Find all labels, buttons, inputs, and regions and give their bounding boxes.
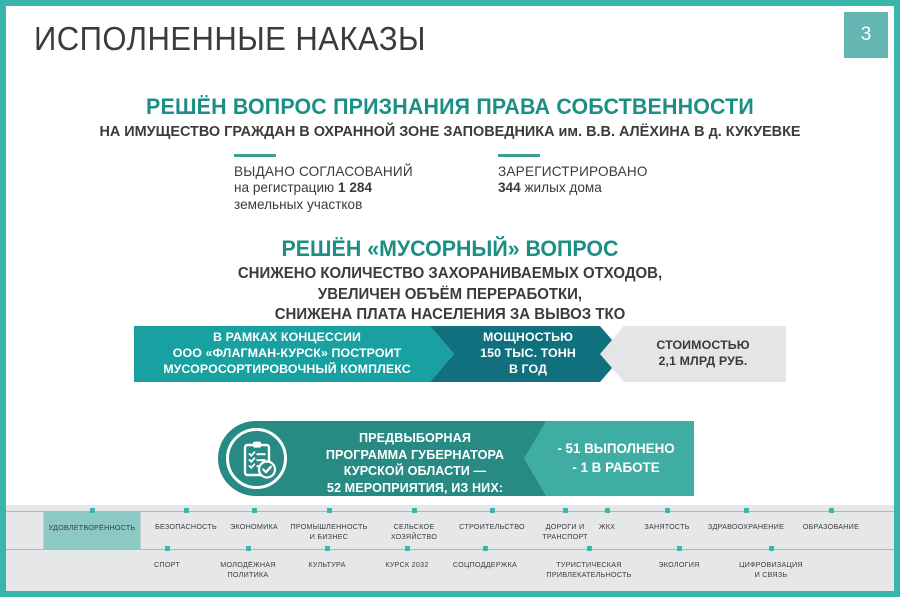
stat-registered: ЗАРЕГИСТРИРОВАНО 344 жилых дома — [498, 154, 648, 197]
governor-program-text: ПРЕДВЫБОРНАЯ ПРОГРАММА ГУБЕРНАТОРА КУРСК… — [292, 430, 538, 496]
banner-seg3-line: СТОИМОСТЬЮ — [656, 338, 749, 354]
footer-tick-marker — [677, 546, 682, 551]
footer-tick-marker — [769, 546, 774, 551]
property-section-heading: РЕШЁН ВОПРОС ПРИЗНАНИЯ ПРАВА СОБСТВЕННОС… — [28, 94, 872, 120]
footer-tick-marker — [184, 508, 189, 513]
banner-seg1-line: В РАМКАХ КОНЦЕССИИ — [163, 330, 411, 346]
banner-seg2-line: В ГОД — [480, 362, 576, 378]
waste-section-heading: РЕШЁН «МУСОРНЫЙ» ВОПРОС — [28, 236, 872, 262]
banner-seg1-line: МУСОРОСОРТИРОВОЧНЫЙ КОМПЛЕКС — [163, 362, 411, 378]
footer-bottom-label: СПОРТ — [154, 560, 180, 569]
page-number-badge: 3 — [844, 12, 888, 58]
footer-top-label: СЕЛЬСКОЕХОЗЯЙСТВО — [391, 522, 437, 541]
footer-tick-marker — [829, 508, 834, 513]
footer-tick-marker — [325, 546, 330, 551]
footer-top-item[interactable]: СЕЛЬСКОЕХОЗЯЙСТВО — [375, 511, 453, 542]
footer-tick-marker — [563, 508, 568, 513]
footer-tick-marker — [744, 508, 749, 513]
stat-approvals-line2: земельных участков — [234, 197, 413, 214]
footer-bottom-label: КУРСК 2032 — [385, 560, 428, 569]
footer-tick-marker — [605, 508, 610, 513]
footer-bottom-item[interactable]: КУРСК 2032 — [371, 549, 443, 570]
waste-sub-line: СНИЖЕНО КОЛИЧЕСТВО ЗАХОРАНИВАЕМЫХ ОТХОДО… — [24, 264, 876, 285]
footer-bottom-label: СОЦПОДДЕРЖКА — [453, 560, 517, 569]
governor-text-line: 52 МЕРОПРИЯТИЯ, ИЗ НИХ: — [292, 480, 538, 497]
governor-result-line: - 51 ВЫПОЛНЕНО — [557, 440, 674, 459]
property-section-subheading: НА ИМУЩЕСТВО ГРАЖДАН В ОХРАННОЙ ЗОНЕ ЗАП… — [28, 123, 872, 140]
footer-bottom-item[interactable]: ЦИФРОВИЗАЦИЯИ СВЯЗЬ — [727, 549, 814, 580]
footer-bottom-label: ЭКОЛОГИЯ — [658, 560, 699, 569]
footer-bottom-item[interactable]: МОЛОДЁЖНАЯПОЛИТИКА — [207, 549, 288, 580]
clipboard-check-icon — [226, 428, 287, 489]
footer-top-label: БЕЗОПАСНОСТЬ — [155, 522, 217, 531]
footer-bottom-item[interactable]: ЭКОЛОГИЯ — [647, 549, 711, 570]
page-title: ИСПОЛНЕННЫЕ НАКАЗЫ — [34, 20, 426, 58]
footer-top-label: ЗАНЯТОСТЬ — [644, 522, 689, 531]
banner-seg2-line: МОЩНОСТЬЮ — [480, 330, 576, 346]
footer-top-label: ЭКОНОМИКА — [230, 522, 278, 531]
footer-tick-marker — [587, 546, 592, 551]
footer-top-item[interactable]: БЕЗОПАСНОСТЬ — [147, 511, 225, 532]
footer-tick-marker — [405, 546, 410, 551]
banner-seg1-line: ООО «ФЛАГМАН-КУРСК» ПОСТРОИТ — [163, 346, 411, 362]
governor-text-line: ПРОГРАММА ГУБЕРНАТОРА — [292, 447, 538, 464]
footer-tick-marker — [90, 508, 95, 513]
stat-approvals: ВЫДАНО СОГЛАСОВАНИЙ на регистрацию 1 284… — [234, 154, 413, 213]
governor-program-results: - 51 ВЫПОЛНЕНО - 1 В РАБОТЕ — [524, 421, 694, 496]
banner-segment-concession: В РАМКАХ КОНЦЕССИИ ООО «ФЛАГМАН-КУРСК» П… — [134, 326, 454, 382]
footer-tick-marker — [252, 508, 257, 513]
footer-top-item[interactable]: УДОВЛЕТВОРЁННОСТЬ — [44, 511, 141, 549]
banner-segment-cost: СТОИМОСТЬЮ 2,1 МЛРД РУБ. — [600, 326, 786, 382]
footer-timeline: УДОВЛЕТВОРЁННОСТЬБЕЗОПАСНОСТЬЭКОНОМИКАПР… — [6, 505, 894, 591]
footer-top-label: СТРОИТЕЛЬСТВО — [459, 522, 525, 531]
stat-rule — [498, 154, 540, 157]
footer-tick-marker — [483, 546, 488, 551]
footer-top-item[interactable]: ЖКХ — [583, 511, 632, 532]
stat-registered-line1: 344 жилых дома — [498, 180, 648, 197]
banner-seg2-line: 150 ТЫС. ТОНН — [480, 346, 576, 362]
banner-seg3-line: 2,1 МЛРД РУБ. — [656, 354, 749, 370]
footer-top-label: ЖКХ — [599, 522, 615, 531]
footer-top-item[interactable]: ЗАНЯТОСТЬ — [633, 511, 701, 532]
banner-segment-capacity: МОЩНОСТЬЮ 150 ТЫС. ТОНН В ГОД — [430, 326, 624, 382]
footer-bottom-item[interactable]: КУЛЬТУРА — [295, 549, 359, 570]
stat-rule — [234, 154, 276, 157]
footer-top-label: ПРОМЫШЛЕННОСТЬИ БИЗНЕС — [290, 522, 367, 541]
footer-top-item[interactable]: ЭКОНОМИКА — [215, 511, 293, 532]
stat-approvals-line1: на регистрацию 1 284 — [234, 180, 413, 197]
footer-tick-marker — [327, 508, 332, 513]
governor-result-line: - 1 В РАБОТЕ — [557, 459, 674, 478]
stat-registered-value: 344 — [498, 180, 521, 195]
waste-sub-line: СНИЖЕНА ПЛАТА НАСЕЛЕНИЯ ЗА ВЫВОЗ ТКО — [24, 305, 876, 326]
governor-program-block: ПРЕДВЫБОРНАЯ ПРОГРАММА ГУБЕРНАТОРА КУРСК… — [218, 421, 694, 496]
footer-top-item[interactable]: СТРОИТЕЛЬСТВО — [451, 511, 532, 532]
footer-tick-marker — [246, 546, 251, 551]
footer-bottom-label: КУЛЬТУРА — [308, 560, 345, 569]
governor-text-line: ПРЕДВЫБОРНАЯ — [292, 430, 538, 447]
stat-approvals-prefix: на регистрацию — [234, 180, 338, 195]
footer-bottom-item[interactable]: СПОРТ — [137, 549, 197, 570]
governor-text-line: КУРСКОЙ ОБЛАСТИ — — [292, 463, 538, 480]
footer-bottom-label: ЦИФРОВИЗАЦИЯИ СВЯЗЬ — [739, 560, 803, 579]
footer-top-item[interactable]: ПРОМЫШЛЕННОСТЬИ БИЗНЕС — [285, 511, 372, 542]
footer-row-top: УДОВЛЕТВОРЁННОСТЬБЕЗОПАСНОСТЬЭКОНОМИКАПР… — [6, 511, 894, 549]
footer-top-item[interactable]: ЗДРАВООХРАНЕНИЕ — [699, 511, 792, 532]
waste-sub-line: УВЕЛИЧЕН ОБЪЁМ ПЕРЕРАБОТКИ, — [24, 285, 876, 306]
footer-tick-marker — [412, 508, 417, 513]
footer-bottom-item[interactable]: ТУРИСТИЧЕСКАЯПРИВЛЕКАТЕЛЬНОСТЬ — [536, 549, 643, 580]
footer-top-label: УДОВЛЕТВОРЁННОСТЬ — [49, 523, 136, 532]
stat-registered-head: ЗАРЕГИСТРИРОВАНО — [498, 164, 648, 180]
stat-approvals-head: ВЫДАНО СОГЛАСОВАНИЙ — [234, 164, 413, 180]
footer-top-label: ДОРОГИ ИТРАНСПОРТ — [542, 522, 588, 541]
footer-top-label: ЗДРАВООХРАНЕНИЕ — [708, 522, 784, 531]
footer-top-item[interactable]: ОБРАЗОВАНИЕ — [791, 511, 871, 532]
property-stats: ВЫДАНО СОГЛАСОВАНИЙ на регистрацию 1 284… — [6, 154, 900, 214]
concession-banner: В РАМКАХ КОНЦЕССИИ ООО «ФЛАГМАН-КУРСК» П… — [134, 326, 786, 382]
footer-tick-marker — [665, 508, 670, 513]
footer-tick-marker — [165, 546, 170, 551]
footer-bottom-label: ТУРИСТИЧЕСКАЯПРИВЛЕКАТЕЛЬНОСТЬ — [546, 560, 631, 579]
footer-bottom-label: МОЛОДЁЖНАЯПОЛИТИКА — [220, 560, 275, 579]
waste-section-subheading: СНИЖЕНО КОЛИЧЕСТВО ЗАХОРАНИВАЕМЫХ ОТХОДО… — [24, 264, 876, 326]
footer-bottom-item[interactable]: СОЦПОДДЕРЖКА — [443, 549, 526, 570]
slide: ИСПОЛНЕННЫЕ НАКАЗЫ 3 РЕШЁН ВОПРОС ПРИЗНА… — [0, 0, 900, 597]
footer-row-bottom: СПОРТМОЛОДЁЖНАЯПОЛИТИКАКУЛЬТУРАКУРСК 203… — [6, 549, 894, 587]
stat-registered-suffix: жилых дома — [521, 180, 602, 195]
stat-approvals-value: 1 284 — [338, 180, 372, 195]
footer-tick-marker — [490, 508, 495, 513]
footer-top-label: ОБРАЗОВАНИЕ — [803, 522, 859, 531]
